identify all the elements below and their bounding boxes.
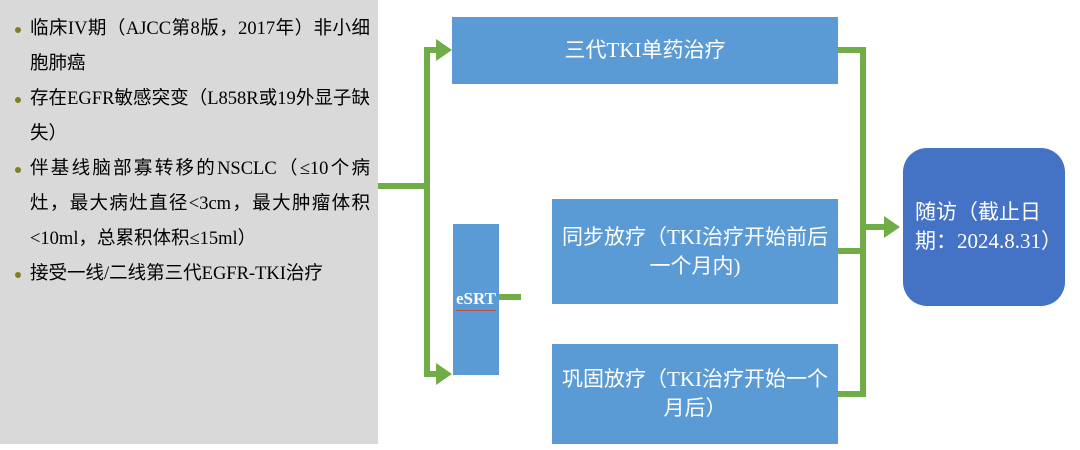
node-concurrent-radiotherapy[interactable]: 同步放疗（TKI治疗开始前后一个月内) (552, 199, 838, 304)
arrow-to-esrt (436, 363, 452, 385)
arrow-to-followup (884, 216, 900, 238)
criteria-item-tki-line: 接受一线/二线第三代EGFR-TKI治疗 (10, 257, 370, 292)
node-tki-monotherapy[interactable]: 三代TKI单药治疗 (452, 17, 838, 84)
arrow-to-tki-mono (436, 39, 452, 61)
criteria-item-stage: 临床IV期（AJCC第8版，2017年）非小细胞肺癌 (10, 12, 370, 82)
node-followup-label: 随访（截止日期：2024.8.31） (915, 198, 1053, 256)
node-followup[interactable]: 随访（截止日期：2024.8.31） (903, 148, 1065, 306)
node-concurrent-radiotherapy-label: 同步放疗（TKI治疗开始前后一个月内) (560, 223, 830, 281)
node-tki-monotherapy-label: 三代TKI单药治疗 (565, 36, 726, 65)
connector-criteria-spine (424, 47, 430, 377)
criteria-list: 临床IV期（AJCC第8版，2017年）非小细胞肺癌 存在EGFR敏感突变（L8… (10, 12, 370, 292)
connector-merge-spine (860, 47, 866, 397)
criteria-item-brain-oligometastasis: 伴基线脑部寡转移的NSCLC（≤10个病灶，最大病灶直径<3cm，最大肿瘤体积<… (10, 152, 370, 257)
inclusion-criteria-panel: 临床IV期（AJCC第8版，2017年）非小细胞肺癌 存在EGFR敏感突变（L8… (0, 0, 378, 444)
node-consolidation-radiotherapy-label: 巩固放疗（TKI治疗开始一个月后） (560, 365, 830, 423)
node-esrt[interactable]: eSRT (453, 224, 499, 375)
connector-esrt-stem (499, 294, 521, 300)
criteria-item-egfr-mutation: 存在EGFR敏感突变（L858R或19外显子缺失） (10, 82, 370, 152)
node-consolidation-radiotherapy[interactable]: 巩固放疗（TKI治疗开始一个月后） (552, 344, 838, 444)
connector-criteria-stem (378, 183, 430, 189)
flowchart-canvas: 临床IV期（AJCC第8版，2017年）非小细胞肺癌 存在EGFR敏感突变（L8… (0, 0, 1080, 450)
node-esrt-label: eSRT (456, 289, 496, 311)
